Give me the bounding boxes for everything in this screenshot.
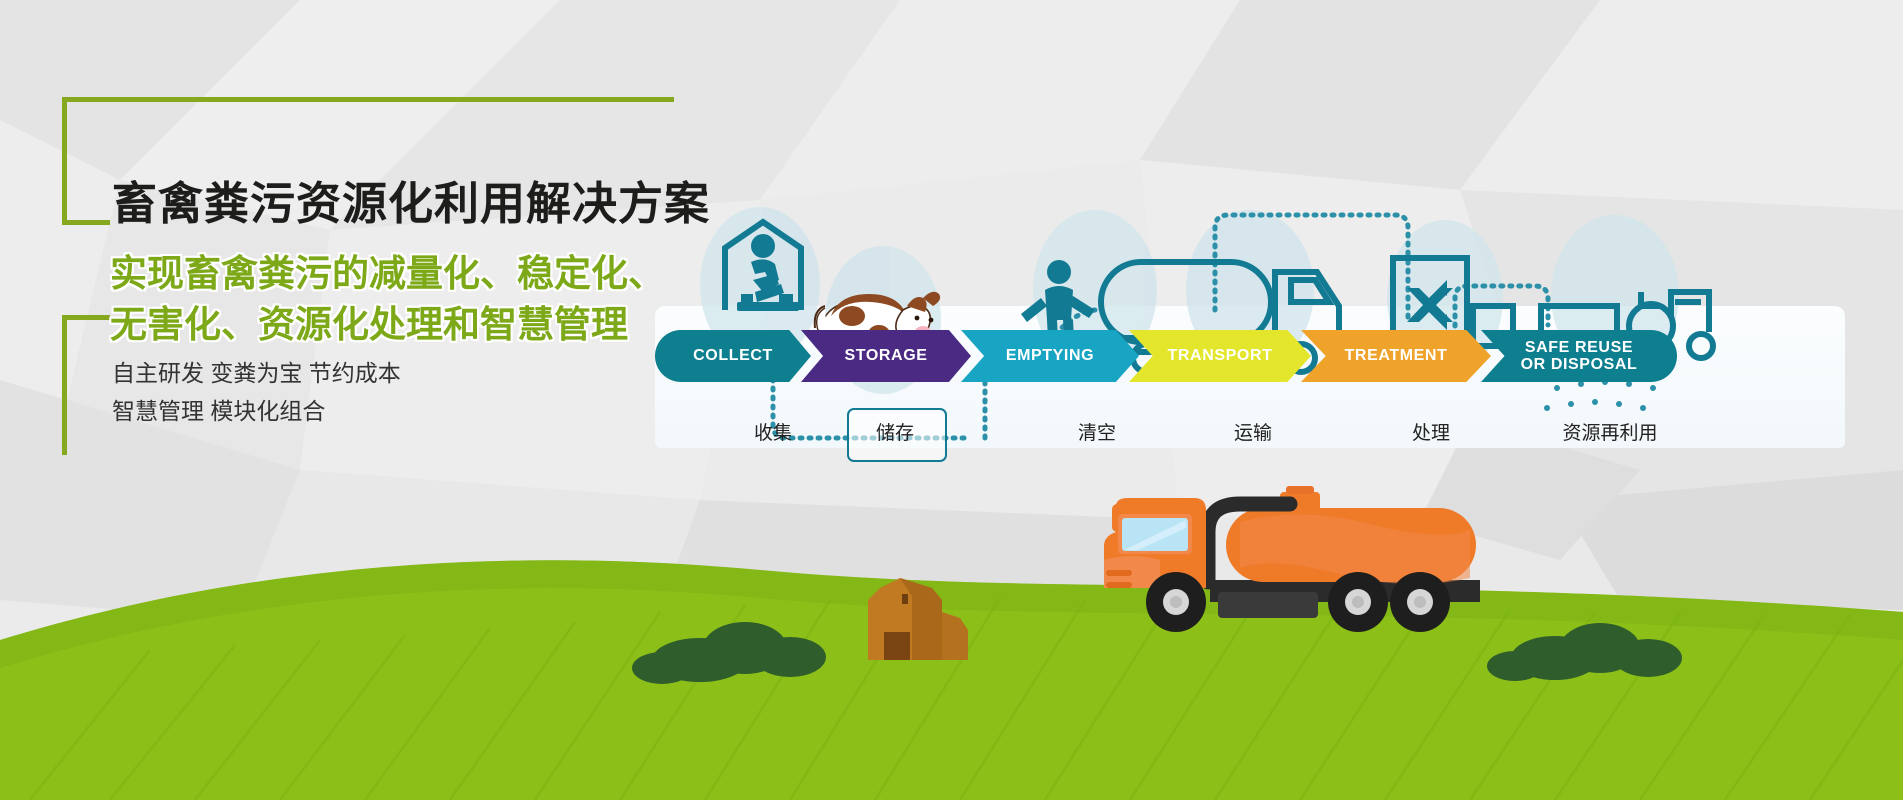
stage-label-collect: 收集 [703, 418, 843, 445]
process-chevron-bar: COLLECT STORAGE EMPTYING TRANSPORT TREAT… [655, 330, 1903, 382]
stage-label-reuse: 资源再利用 [1525, 418, 1695, 445]
frame-notch-upper [62, 220, 110, 225]
stage-label-transport: 运输 [1183, 418, 1323, 445]
chevron-transport-label: TRANSPORT [1168, 347, 1273, 364]
tagline-line-2: 智慧管理 模块化组合 [112, 393, 672, 431]
stage-label-storage: 储存 [825, 418, 965, 445]
orange-tanker-truck [1090, 470, 1520, 640]
tagline-list: 自主研发 变粪为宝 节约成本 智慧管理 模块化组合 [112, 355, 672, 431]
chevron-safe-reuse-label-line2: OR DISPOSAL [1521, 356, 1638, 373]
chevron-emptying[interactable]: EMPTYING [961, 330, 1139, 382]
chevron-transport[interactable]: TRANSPORT [1129, 330, 1311, 382]
page-title: 畜禽粪污资源化利用解决方案 [112, 178, 712, 230]
subtitle-line-2: 无害化、资源化处理和智慧管理 [110, 299, 730, 350]
chevron-emptying-label: EMPTYING [1006, 347, 1094, 364]
headline-block: 畜禽粪污资源化利用解决方案 实现畜禽粪污的减量化、稳定化、 无害化、资源化处理和… [0, 0, 760, 520]
stage-label-treatment: 处理 [1361, 418, 1501, 445]
chevron-collect[interactable]: COLLECT [655, 330, 811, 382]
chevron-storage-label: STORAGE [844, 347, 927, 364]
chevron-treatment-label: TREATMENT [1345, 347, 1448, 364]
chevron-treatment[interactable]: TREATMENT [1301, 330, 1491, 382]
chevron-safe-reuse-label-line1: SAFE REUSE [1525, 339, 1633, 356]
process-infographic: 收集 储存 清空 运输 处理 资源再利用 [655, 120, 1903, 500]
promo-banner: 畜禽粪污资源化利用解决方案 实现畜禽粪污的减量化、稳定化、 无害化、资源化处理和… [0, 0, 1903, 800]
subtitle-line-1: 实现畜禽粪污的减量化、稳定化、 [110, 248, 730, 299]
subtitle: 实现畜禽粪污的减量化、稳定化、 无害化、资源化处理和智慧管理 [110, 248, 730, 350]
chevron-storage[interactable]: STORAGE [801, 330, 971, 382]
frame-notch-lower [62, 315, 110, 320]
frame-top-rule [62, 97, 674, 102]
chevron-collect-label: COLLECT [693, 347, 773, 364]
frame-left-lower [62, 315, 67, 455]
chevron-safe-reuse[interactable]: SAFE REUSE OR DISPOSAL [1481, 330, 1677, 382]
tagline-line-1: 自主研发 变粪为宝 节约成本 [112, 355, 672, 393]
stage-label-emptying: 清空 [1027, 418, 1167, 445]
frame-left-upper [62, 97, 67, 225]
